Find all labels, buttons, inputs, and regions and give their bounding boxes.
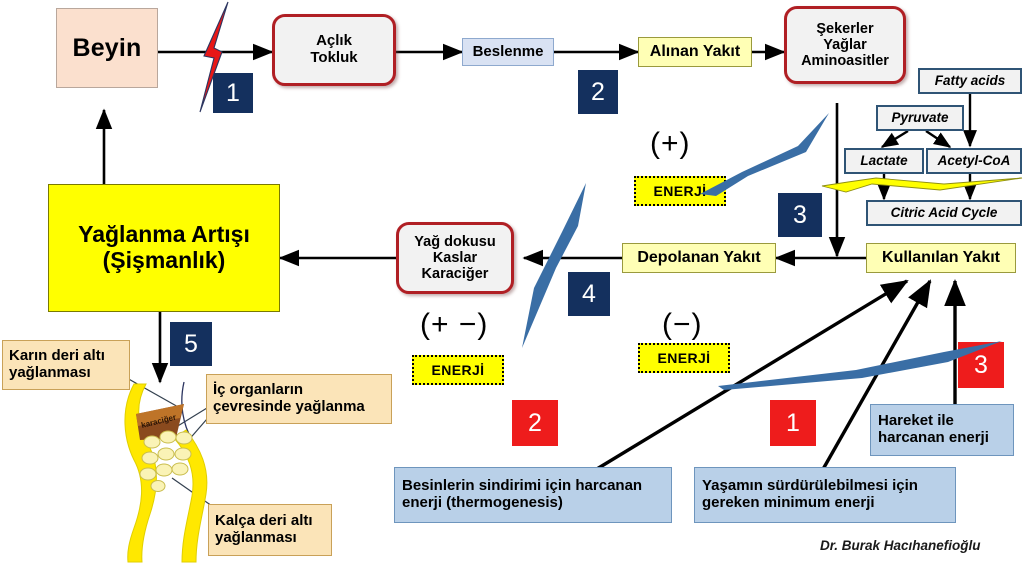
node-nutrition[interactable]: Beslenme (462, 38, 554, 66)
energy-label-positive: ENERJİ (634, 176, 726, 206)
tissue-line-1: Yağ dokusu (414, 234, 495, 250)
energy-sign-negative: (−) (662, 308, 703, 342)
expenditure-chip-1[interactable]: 1 (770, 400, 816, 446)
obesity-line-2: (Şişmanlık) (103, 248, 226, 274)
author-signature: Dr. Burak Hacıhanefioğlu (820, 538, 981, 553)
node-fatty-acids[interactable]: Fatty acids (918, 68, 1022, 94)
expenditure-chip-3[interactable]: 3 (958, 342, 1004, 388)
node-fuel-taken[interactable]: Alınan Yakıt (638, 37, 752, 67)
hunger-line-2: Tokluk (310, 50, 357, 67)
callout-visceral-fat[interactable]: İç organların çevresinde yağlanma (206, 374, 392, 424)
yellow-lightning-bolt (822, 178, 1022, 192)
node-lactate[interactable]: Lactate (844, 148, 924, 174)
blue-arrow-storage (522, 183, 586, 348)
node-acetyl-coa[interactable]: Acetyl-CoA (926, 148, 1022, 174)
node-fuel-stored[interactable]: Depolanan Yakıt (622, 243, 776, 273)
energy-sign-plus-minus: (+ −) (420, 308, 488, 342)
visceral-fat-globules (140, 431, 192, 492)
expenditure-activity-box[interactable]: Hareket ile harcanan enerji (870, 404, 1014, 456)
step-chip-1[interactable]: 1 (213, 73, 253, 113)
node-pyruvate[interactable]: Pyruvate (876, 105, 964, 131)
diagram-canvas: karaciğer Beyin Açlık Tokluk Beslenme Al… (0, 0, 1024, 576)
macro-line-1: Şekerler (816, 21, 873, 37)
callout-abdominal-fat[interactable]: Karın deri altı yağlanması (2, 340, 130, 390)
step-chip-2[interactable]: 2 (578, 70, 618, 114)
tissue-line-2: Kaslar (433, 250, 477, 266)
macro-line-2: Yağlar (823, 37, 867, 53)
expenditure-thermogenesis-box[interactable]: Besinlerin sindirimi için harcanan enerj… (394, 467, 672, 523)
expenditure-basal-box[interactable]: Yaşamın sürdürülebilmesi için gereken mi… (694, 467, 956, 523)
hunger-line-1: Açlık (316, 33, 352, 50)
node-obesity[interactable]: Yağlanma Artışı (Şişmanlık) (48, 184, 280, 312)
step-chip-4[interactable]: 4 (568, 272, 610, 316)
node-fuel-used[interactable]: Kullanılan Yakıt (866, 243, 1016, 273)
tissue-line-3: Karaciğer (422, 266, 489, 282)
macro-line-3: Aminoasitler (801, 53, 889, 69)
liver-label: karaciğer (140, 413, 177, 430)
node-tissues[interactable]: Yağ dokusu Kaslar Karaciğer (396, 222, 514, 294)
energy-sign-positive: (+) (650, 127, 691, 161)
energy-label-plus-minus: ENERJİ (412, 355, 504, 385)
step-chip-5[interactable]: 5 (170, 322, 212, 366)
node-brain[interactable]: Beyin (56, 8, 158, 88)
expenditure-chip-2[interactable]: 2 (512, 400, 558, 446)
energy-label-negative: ENERJİ (638, 343, 730, 373)
node-macronutrients[interactable]: Şekerler Yağlar Aminoasitler (784, 6, 906, 84)
step-chip-3[interactable]: 3 (778, 193, 822, 237)
node-hunger-satiety[interactable]: Açlık Tokluk (272, 14, 396, 86)
callout-gluteal-fat[interactable]: Kalça deri altı yağlanması (208, 504, 332, 556)
obesity-line-1: Yağlanma Artışı (78, 222, 250, 248)
node-citric-acid-cycle[interactable]: Citric Acid Cycle (866, 200, 1022, 226)
